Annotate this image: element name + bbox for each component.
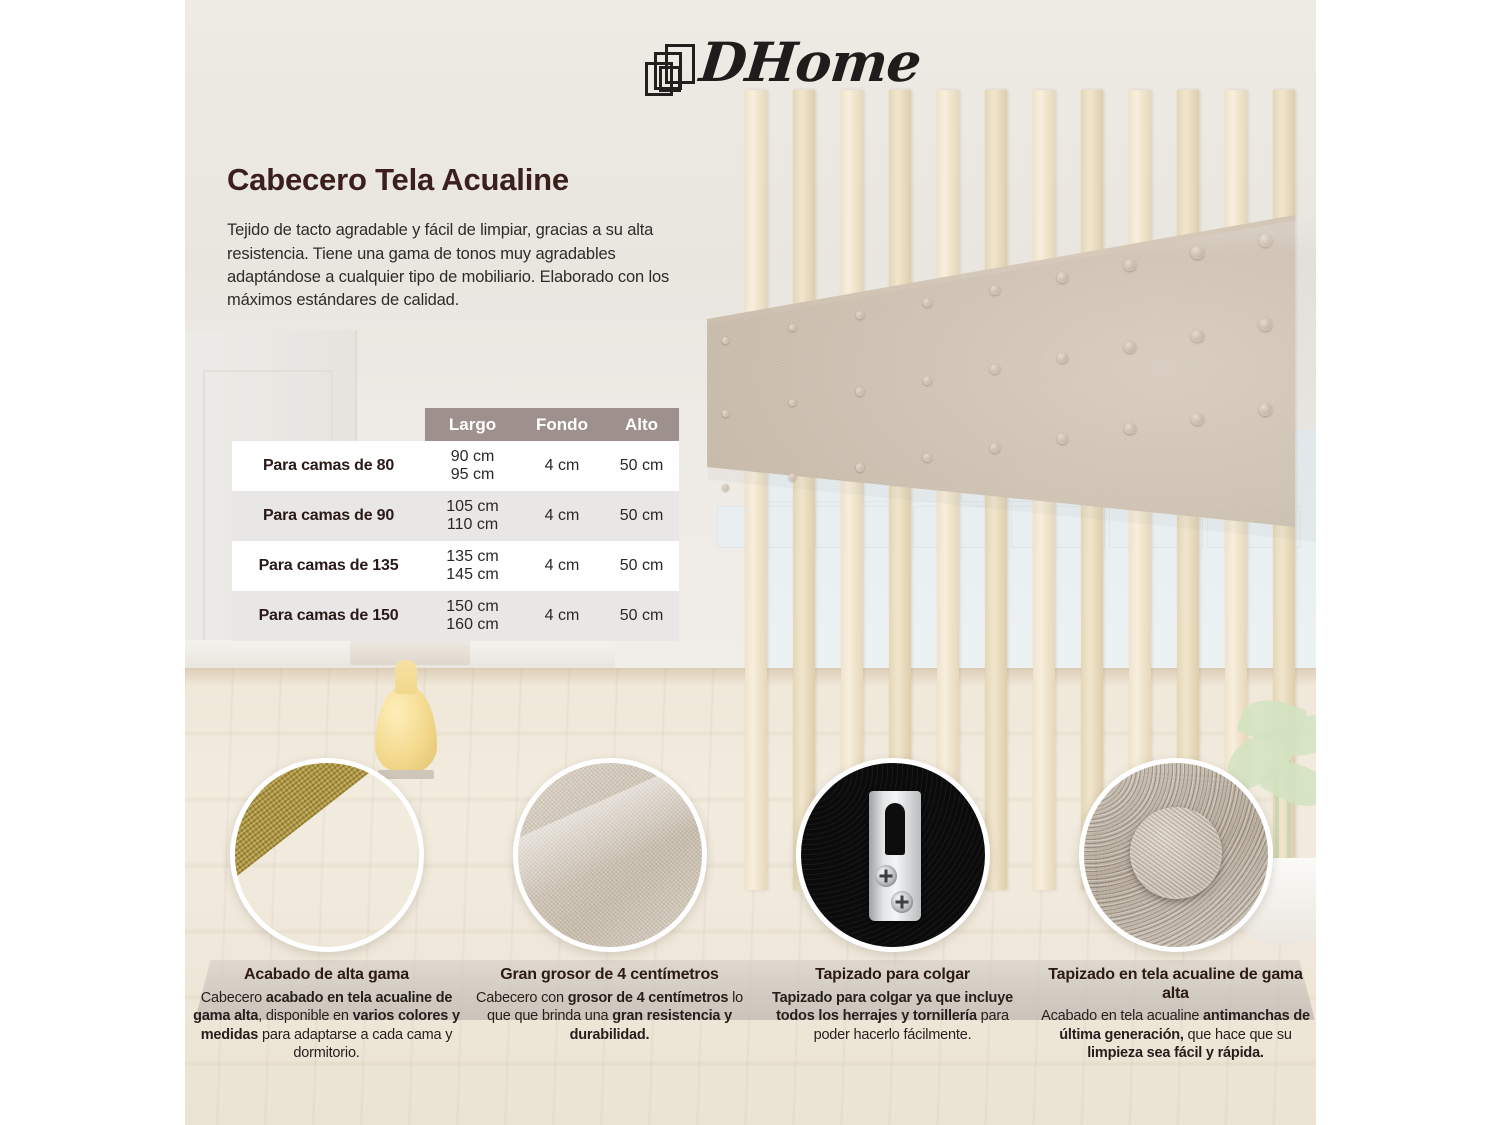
cell-largo: 90 cm95 cm	[425, 448, 520, 484]
fabric-swatches-icon	[230, 758, 424, 952]
feature-title: Tapizado en tela acualine de gama alta	[1040, 966, 1311, 1003]
specifications-table: Largo Fondo Alto Para camas de 80 90 cm9…	[232, 408, 679, 641]
cell-alto: 50 cm	[604, 557, 679, 575]
product-description: Tejido de tacto agradable y fácil de lim…	[227, 219, 707, 313]
fabric-button-icon	[1079, 758, 1273, 952]
row-label: Para camas de 150	[232, 607, 425, 625]
column-header-fondo: Fondo	[520, 415, 604, 435]
feature-item: Gran grosor de 4 centímetros Cabecero co…	[468, 758, 751, 1044]
headboard-button	[722, 484, 729, 491]
cell-alto: 50 cm	[604, 607, 679, 625]
brand-name: DHome	[697, 30, 924, 94]
column-header-largo: Largo	[425, 415, 520, 435]
screw-icon	[875, 865, 897, 887]
screw-icon	[891, 891, 913, 913]
features-section: Acabado de alta gama Cabecero acabado en…	[185, 758, 1316, 1125]
cell-alto: 50 cm	[604, 507, 679, 525]
cell-largo: 135 cm145 cm	[425, 548, 520, 584]
cell-largo: 150 cm160 cm	[425, 598, 520, 634]
overlapping-squares-icon	[645, 44, 693, 94]
row-label: Para camas de 90	[232, 507, 425, 525]
feature-body: Tapizado para colgar ya que incluye todo…	[757, 989, 1028, 1045]
feature-item: Tapizado para colgar Tapizado para colga…	[751, 758, 1034, 1044]
cell-fondo: 4 cm	[520, 457, 604, 475]
cell-alto: 50 cm	[604, 457, 679, 475]
cell-largo: 105 cm110 cm	[425, 498, 520, 534]
cell-fondo: 4 cm	[520, 557, 604, 575]
feature-body: Cabecero acabado en tela acualine de gam…	[191, 989, 462, 1063]
feature-item: Acabado de alta gama Cabecero acabado en…	[185, 758, 468, 1063]
table-row: Para camas de 135 135 cm145 cm 4 cm 50 c…	[232, 541, 679, 591]
feature-body: Cabecero con grosor de 4 centímetros lo …	[474, 989, 745, 1045]
headline-block: Cabecero Tela Acualine Tejido de tacto a…	[227, 163, 707, 313]
feature-title: Tapizado para colgar	[757, 966, 1028, 985]
page-title: Cabecero Tela Acualine	[227, 163, 707, 197]
table-row: Para camas de 80 90 cm95 cm 4 cm 50 cm	[232, 441, 679, 491]
column-header-alto: Alto	[604, 415, 679, 435]
table-row: Para camas de 150 150 cm160 cm 4 cm 50 c…	[232, 591, 679, 641]
thick-fabric-icon	[513, 758, 707, 952]
row-label: Para camas de 135	[232, 557, 425, 575]
feature-title: Acabado de alta gama	[191, 966, 462, 985]
table-row: Para camas de 90 105 cm110 cm 4 cm 50 cm	[232, 491, 679, 541]
feature-title: Gran grosor de 4 centímetros	[474, 966, 745, 985]
hanging-bracket-icon	[796, 758, 990, 952]
row-label: Para camas de 80	[232, 457, 425, 475]
product-hero-image	[695, 215, 1316, 635]
feature-body: Acabado en tela acualine antimanchas de …	[1040, 1007, 1311, 1063]
feature-item: Tapizado en tela acualine de gama alta A…	[1034, 758, 1316, 1063]
brand-logo: DHome	[645, 32, 885, 104]
cell-fondo: 4 cm	[520, 607, 604, 625]
product-infographic: DHome Cabecero Tela Acualine Tejido de t…	[185, 0, 1316, 1125]
table-header-row: Largo Fondo Alto	[425, 408, 679, 441]
cell-fondo: 4 cm	[520, 507, 604, 525]
